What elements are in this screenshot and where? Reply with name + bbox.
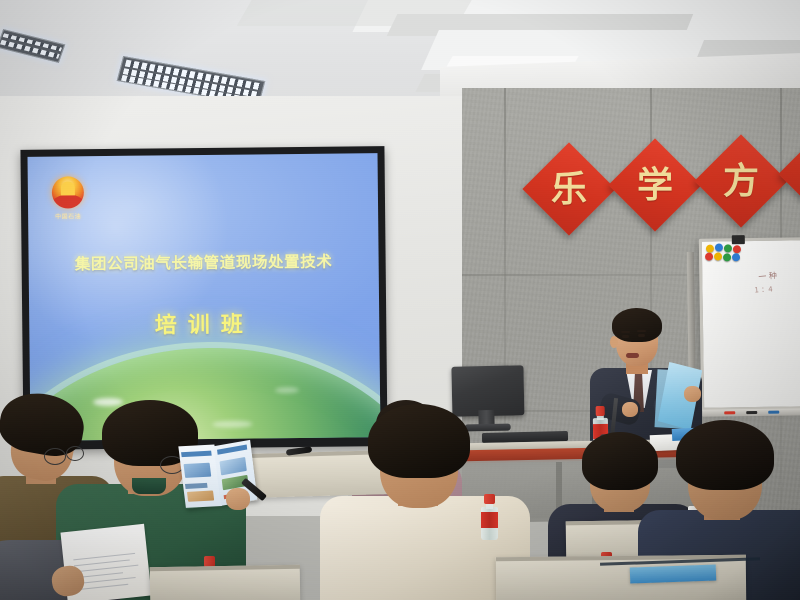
whiteboard: 一 种 1 ：4 <box>699 237 800 411</box>
attendee-cream-hair <box>368 404 470 478</box>
attendee-green-collar <box>132 478 166 494</box>
presenter-hand-left <box>622 402 638 417</box>
presenter-eye <box>638 334 645 337</box>
slide-subtitle: 培训班 <box>29 305 379 341</box>
slide-title: 集团公司油气长输管道现场处置技术 <box>29 249 379 275</box>
banner-xue: 学 <box>608 138 701 231</box>
banner-xue-char: 学 <box>622 152 688 218</box>
petrochina-sun-mark <box>52 176 84 208</box>
attendee-navy-hair <box>676 420 774 490</box>
petrochina-logo: 中国石油 <box>50 176 86 222</box>
blue-folder <box>630 565 717 584</box>
whiteboard-magnet[interactable] <box>714 252 722 260</box>
whiteboard-marker-tray <box>702 408 800 417</box>
whiteboard-magnet[interactable] <box>723 253 731 261</box>
whiteboard-magnet[interactable] <box>706 245 714 253</box>
banner-partial <box>778 134 800 213</box>
conference-room-photo: 乐 学 方 中国石油 集团公司油气长输管道现场处置技术 培训班 <box>0 0 800 600</box>
presenter-ear <box>610 336 618 348</box>
whiteboard-note-line-2: 1 ：4 <box>754 284 773 295</box>
petrochina-logo-caption: 中国石油 <box>50 211 86 220</box>
whiteboard-magnet[interactable] <box>732 253 740 261</box>
whiteboard-magnet[interactable] <box>715 243 723 251</box>
whiteboard-marker[interactable] <box>724 411 735 414</box>
whiteboard-marker[interactable] <box>746 411 757 414</box>
presenter-hand-right <box>684 386 701 402</box>
presenter-mouth <box>626 353 639 358</box>
attendee-green-hand <box>226 488 250 510</box>
whiteboard-marker[interactable] <box>768 411 779 414</box>
presenter-hair <box>612 308 662 342</box>
whiteboard-magnet[interactable] <box>733 245 741 253</box>
banner-partial-char <box>790 146 800 202</box>
water-bottle <box>481 494 498 540</box>
whiteboard-clip <box>732 235 745 244</box>
whiteboard-magnet[interactable] <box>724 244 732 252</box>
banner-le-char: 乐 <box>536 156 602 222</box>
whiteboard-note-line-1: 一 种 <box>758 270 777 283</box>
whiteboard-magnet[interactable] <box>705 253 713 261</box>
banner-fang: 方 <box>694 134 787 227</box>
presenter-eye <box>622 335 629 338</box>
banner-le: 乐 <box>522 142 615 235</box>
banner-fang-char: 方 <box>708 148 774 214</box>
presenter-eyebrow <box>637 330 646 332</box>
presenter-eyebrow <box>621 331 630 333</box>
